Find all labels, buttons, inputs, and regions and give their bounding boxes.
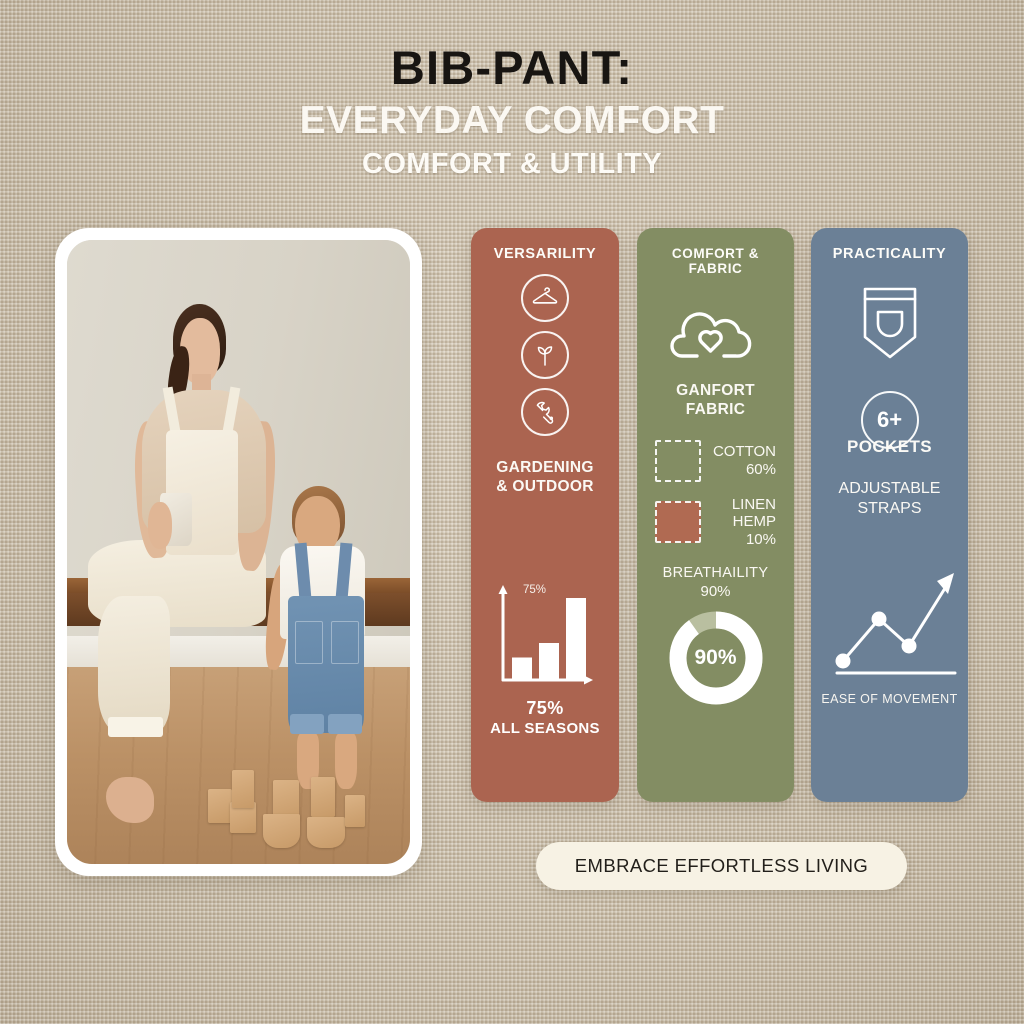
cta-label: EMBRACE EFFORTLESS LIVING — [575, 855, 868, 877]
panel-versatility-header: VERSARILITY — [481, 246, 609, 262]
line-chart-svg — [821, 551, 968, 683]
versatility-bar-chart: 75% — [471, 580, 619, 700]
versatility-caption-line1: GARDENING — [481, 458, 609, 477]
bar-chart-svg — [471, 580, 619, 696]
pocket-icon — [821, 284, 958, 365]
hanger-icon — [521, 274, 569, 322]
panel-versatility[interactable]: VERSARILITY — [471, 228, 619, 802]
sprout-icon — [521, 331, 569, 379]
cotton-pct: 60% — [711, 461, 776, 479]
comfort-caption-line2: FABRIC — [647, 400, 784, 419]
photo-wooden-block — [263, 814, 301, 848]
comfort-caption-line1: GANFORT — [647, 381, 784, 400]
cotton-text: COTTON 60% — [711, 443, 776, 478]
versatility-icon-stack — [481, 274, 609, 436]
linen-hemp-pct: 10% — [711, 531, 776, 549]
straps-line1: ADJUSTABLE — [821, 479, 958, 499]
fabric-row-cotton: COTTON 60% — [647, 440, 784, 482]
photo-child-leg-right — [335, 733, 357, 789]
fabric-row-linen-hemp: LINEN HEMP 10% — [647, 496, 784, 549]
photo-woman-hand — [148, 502, 172, 549]
photo-wooden-block — [208, 789, 232, 823]
page-title: BIB-PANT: — [0, 44, 1024, 91]
photo-child-pocket-right — [331, 621, 358, 665]
panel-practicality-header: PRACTICALITY — [821, 246, 958, 262]
photo-woman-leg — [98, 596, 170, 733]
cotton-name: COTTON — [711, 443, 776, 461]
photo-child-cuff-right — [328, 714, 362, 734]
panel-comfort-fabric[interactable]: COMFORT & FABRIC GANFORT FABRIC COTTON 6… — [637, 228, 794, 802]
photo-child-denim-overalls — [288, 596, 363, 733]
panel-practicality[interactable]: PRACTICALITY 6+ POCKETS ADJUSTABLE STRAP… — [811, 228, 968, 802]
breathability-label: BREATHAILITY — [647, 565, 784, 581]
page-subtitle-secondary: COMFORT & UTILITY — [0, 147, 1024, 182]
linen-hemp-name-line2: HEMP — [711, 513, 776, 531]
adjustable-straps-text: ADJUSTABLE STRAPS — [821, 479, 958, 519]
cta-pill[interactable]: EMBRACE EFFORTLESS LIVING — [536, 842, 907, 890]
versatility-stat: 75% ALL SEASONS — [471, 698, 619, 737]
pockets-group: 6+ POCKETS — [821, 391, 958, 457]
title-block: BIB-PANT: EVERYDAY COMFORT COMFORT & UTI… — [0, 44, 1024, 182]
breathability-pct: 90% — [647, 583, 784, 600]
linen-hemp-swatch-icon — [655, 501, 701, 543]
photo-wooden-block — [232, 770, 254, 807]
photo-wooden-block — [307, 817, 345, 848]
hero-photo-card — [55, 228, 422, 876]
linen-hemp-name-line1: LINEN — [711, 496, 776, 514]
photo-child-cuff-left — [290, 714, 324, 734]
hero-photo — [67, 240, 410, 864]
pockets-label: POCKETS — [821, 437, 958, 457]
page-subtitle-primary: EVERYDAY COMFORT — [0, 97, 1024, 146]
photo-child-pocket-left — [295, 621, 322, 665]
bar-chart-axis-label: 75% — [523, 584, 546, 596]
straps-line2: STRAPS — [821, 499, 958, 519]
panel-comfort-header: COMFORT & FABRIC — [647, 246, 784, 276]
breathability-donut-chart: 90% — [647, 606, 784, 710]
versatility-caption-line2: & OUTDOOR — [481, 477, 609, 496]
ease-of-movement-line-chart — [821, 551, 958, 688]
linen-hemp-text: LINEN HEMP 10% — [711, 496, 776, 549]
photo-woman-cuff — [108, 717, 163, 737]
versatility-stat-value: 75% — [471, 698, 619, 719]
comfort-caption: GANFORT FABRIC — [647, 381, 784, 420]
versatility-stat-label: ALL SEASONS — [471, 720, 619, 737]
donut-center-value: 90% — [694, 646, 736, 670]
cloud-heart-icon — [647, 300, 784, 367]
wrench-icon — [521, 388, 569, 436]
cotton-swatch-icon — [655, 440, 701, 482]
versatility-caption: GARDENING & OUTDOOR — [481, 458, 609, 497]
photo-wooden-block — [311, 777, 335, 818]
infographic-canvas: BIB-PANT: EVERYDAY COMFORT COMFORT & UTI… — [0, 0, 1024, 1024]
photo-wooden-block — [345, 795, 366, 826]
ease-of-movement-label: EASE OF MOVEMENT — [821, 692, 958, 706]
